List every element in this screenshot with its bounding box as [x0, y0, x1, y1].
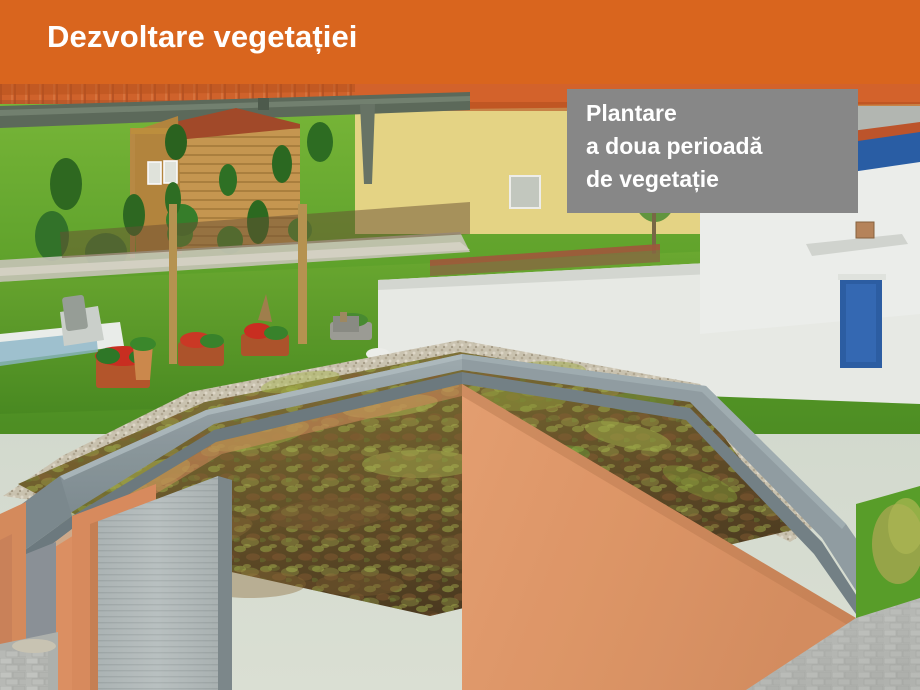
page-title: Dezvoltare vegetației	[47, 16, 358, 58]
caption-line-2: a doua perioadă	[586, 130, 851, 163]
caption-text: Plantare a doua perioadă de vegetație	[586, 97, 851, 196]
caption-box: Plantare a doua perioadă de vegetație	[567, 89, 858, 213]
caption-line-3: de vegetație	[586, 163, 851, 196]
slide-root: Dezvoltare vegetației	[0, 0, 920, 690]
caption-line-1: Plantare	[586, 97, 851, 130]
